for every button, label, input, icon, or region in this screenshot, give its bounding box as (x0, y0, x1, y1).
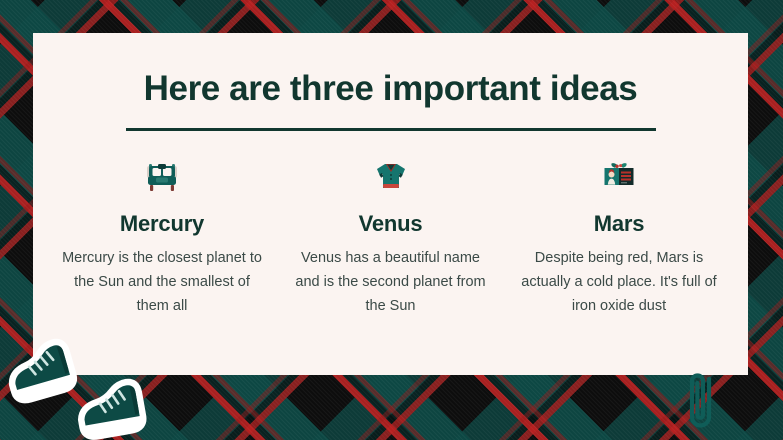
idea-body: Venus has a beautiful name and is the se… (282, 247, 500, 319)
content-card: Here are three important ideas (33, 33, 748, 375)
idea-title: Venus (282, 211, 500, 237)
sweater-icon (282, 153, 500, 199)
idea-column-mercury: Mercury Mercury is the closest planet to… (53, 153, 271, 319)
idea-column-venus: Venus Venus has a beautiful name and is … (282, 153, 500, 319)
idea-body: Despite being red, Mars is actually a co… (510, 247, 728, 319)
idea-body: Mercury is the closest planet to the Sun… (53, 247, 271, 319)
idea-title: Mercury (53, 211, 271, 237)
idea-columns: Mercury Mercury is the closest planet to… (53, 153, 728, 319)
idea-column-mars: Mars Despite being red, Mars is actually… (510, 153, 728, 319)
greeting-card-icon (510, 153, 728, 199)
idea-title: Mars (510, 211, 728, 237)
slide: Here are three important ideas (0, 0, 783, 440)
bed-icon (53, 153, 271, 199)
title-underline (126, 128, 656, 131)
slide-title: Here are three important ideas (33, 69, 748, 109)
